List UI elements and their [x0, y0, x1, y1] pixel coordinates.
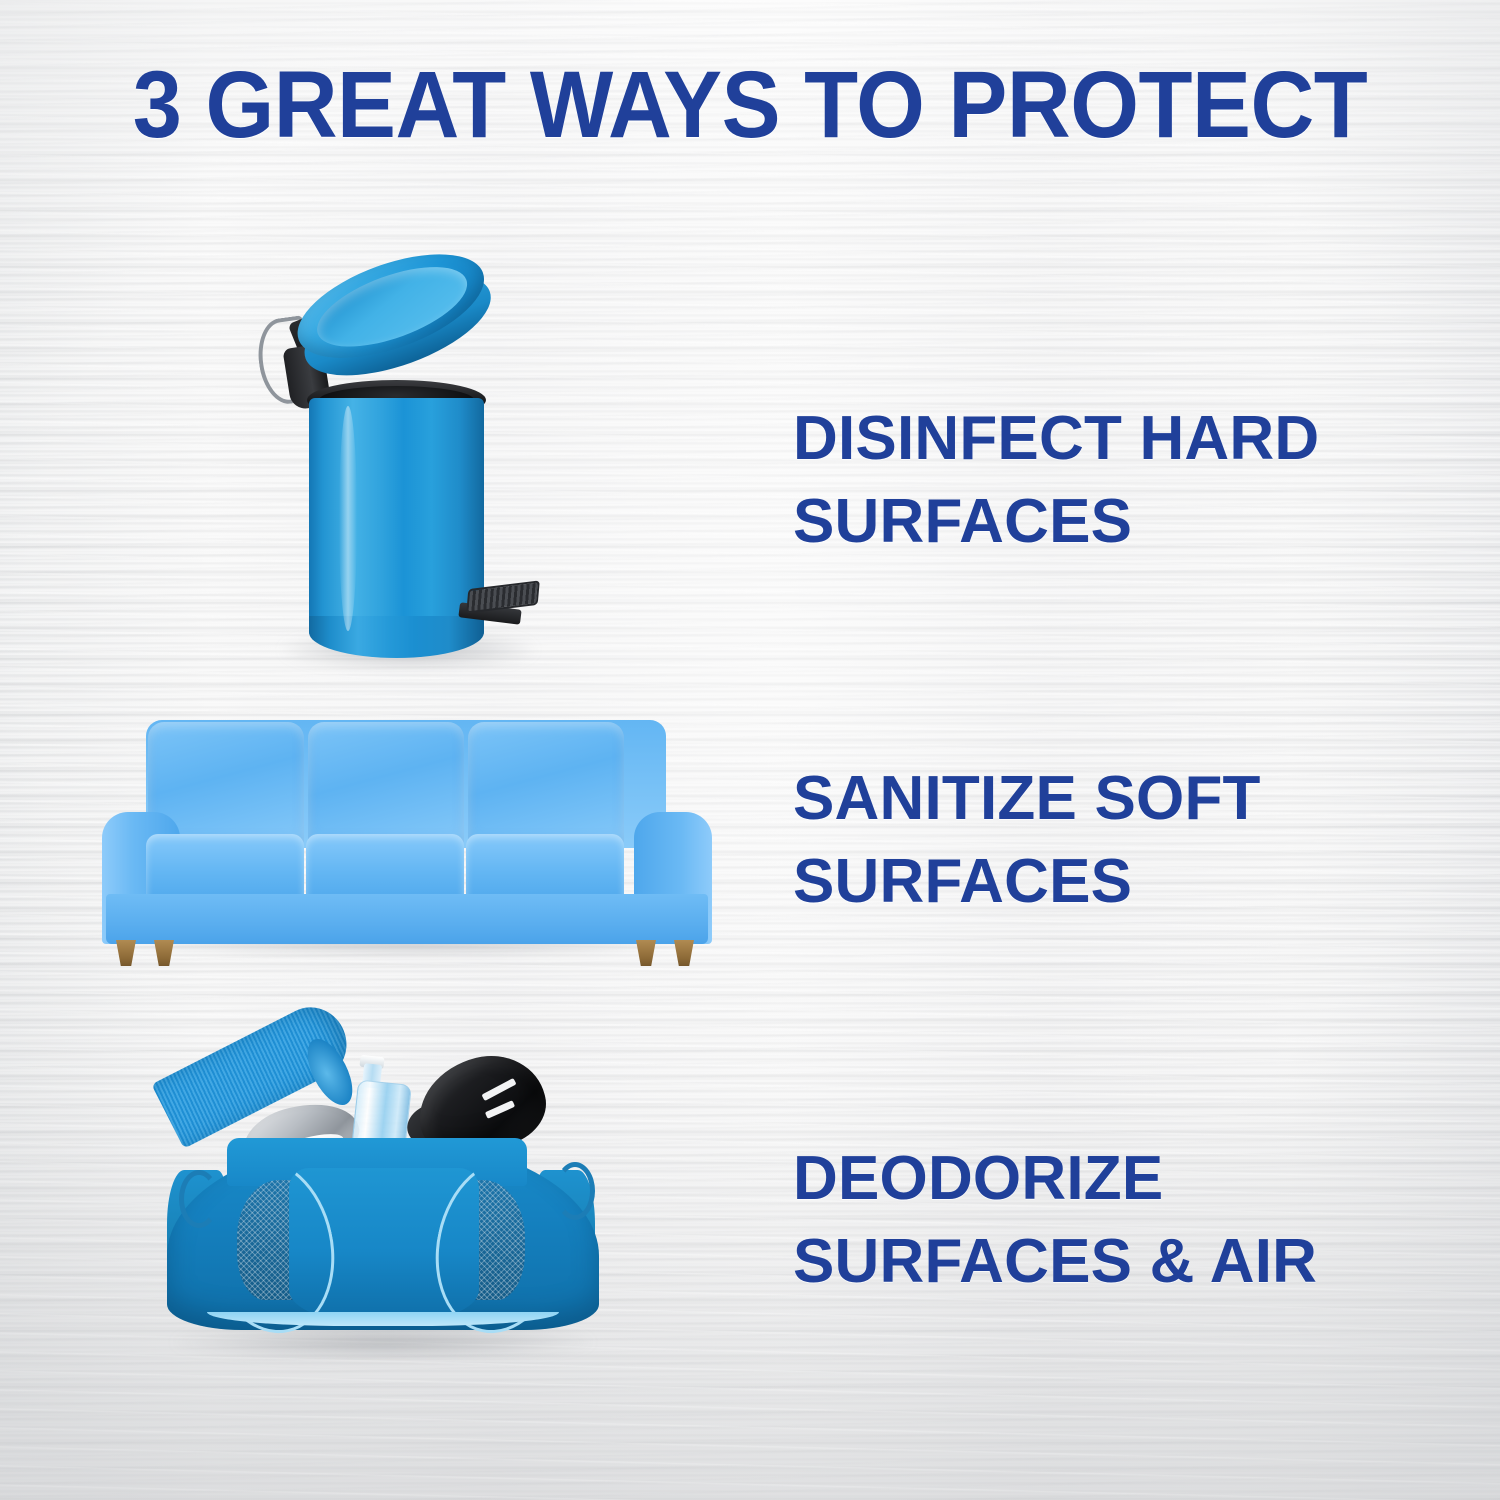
caption-deodorize-line-2: SURFACES & AIR [793, 1220, 1433, 1303]
sofa-leg-front-left [116, 940, 136, 966]
page-title: 3 GREAT WAYS TO PROTECT [53, 58, 1448, 153]
caption-sanitize: SANITIZE SOFT SURFACES [793, 757, 1433, 923]
sofa-leg-back-left [154, 940, 174, 966]
infographic-poster: 3 GREAT WAYS TO PROTECT DISINFECT HARD S… [0, 0, 1500, 1500]
sofa-base [106, 894, 708, 944]
caption-disinfect-line-2: SURFACES [793, 480, 1433, 563]
gym-bag-handle-right [555, 1162, 595, 1220]
trash-can-highlight [339, 406, 357, 631]
caption-disinfect-line-1: DISINFECT HARD [793, 397, 1433, 480]
sofa-leg-front-right [674, 940, 694, 966]
sofa-back-cushion-center [308, 722, 464, 846]
caption-deodorize: DEODORIZE SURFACES & AIR [793, 1137, 1433, 1303]
caption-disinfect: DISINFECT HARD SURFACES [793, 397, 1433, 563]
caption-deodorize-line-1: DEODORIZE [793, 1137, 1433, 1220]
gym-bag-handle-left [179, 1170, 219, 1228]
sofa-leg-back-right [636, 940, 656, 966]
sofa-back-cushion-right [468, 722, 624, 846]
trash-can-body [309, 398, 484, 643]
caption-sanitize-line-1: SANITIZE SOFT [793, 757, 1433, 840]
gym-bag-shadow [173, 1325, 593, 1359]
caption-sanitize-line-2: SURFACES [793, 840, 1433, 923]
sofa-illustration [96, 716, 716, 961]
trash-can-illustration [243, 258, 573, 673]
gym-bag-illustration [163, 1030, 603, 1360]
